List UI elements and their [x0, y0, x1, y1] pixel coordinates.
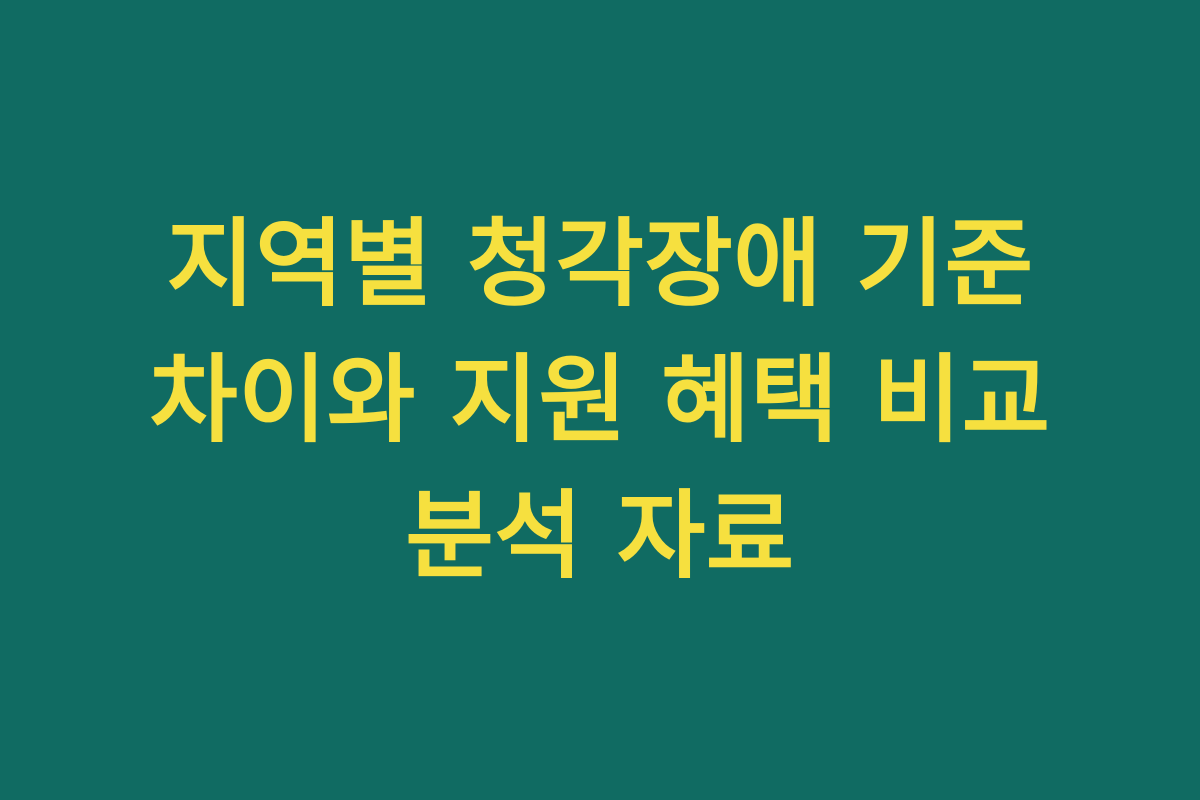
title-card-banner: 지역별 청각장애 기준 차이와 지원 혜택 비교 분석 자료	[0, 0, 1200, 800]
page-title: 지역별 청각장애 기준 차이와 지원 혜택 비교 분석 자료	[80, 196, 1120, 605]
title-block: 지역별 청각장애 기준 차이와 지원 혜택 비교 분석 자료	[70, 196, 1130, 605]
